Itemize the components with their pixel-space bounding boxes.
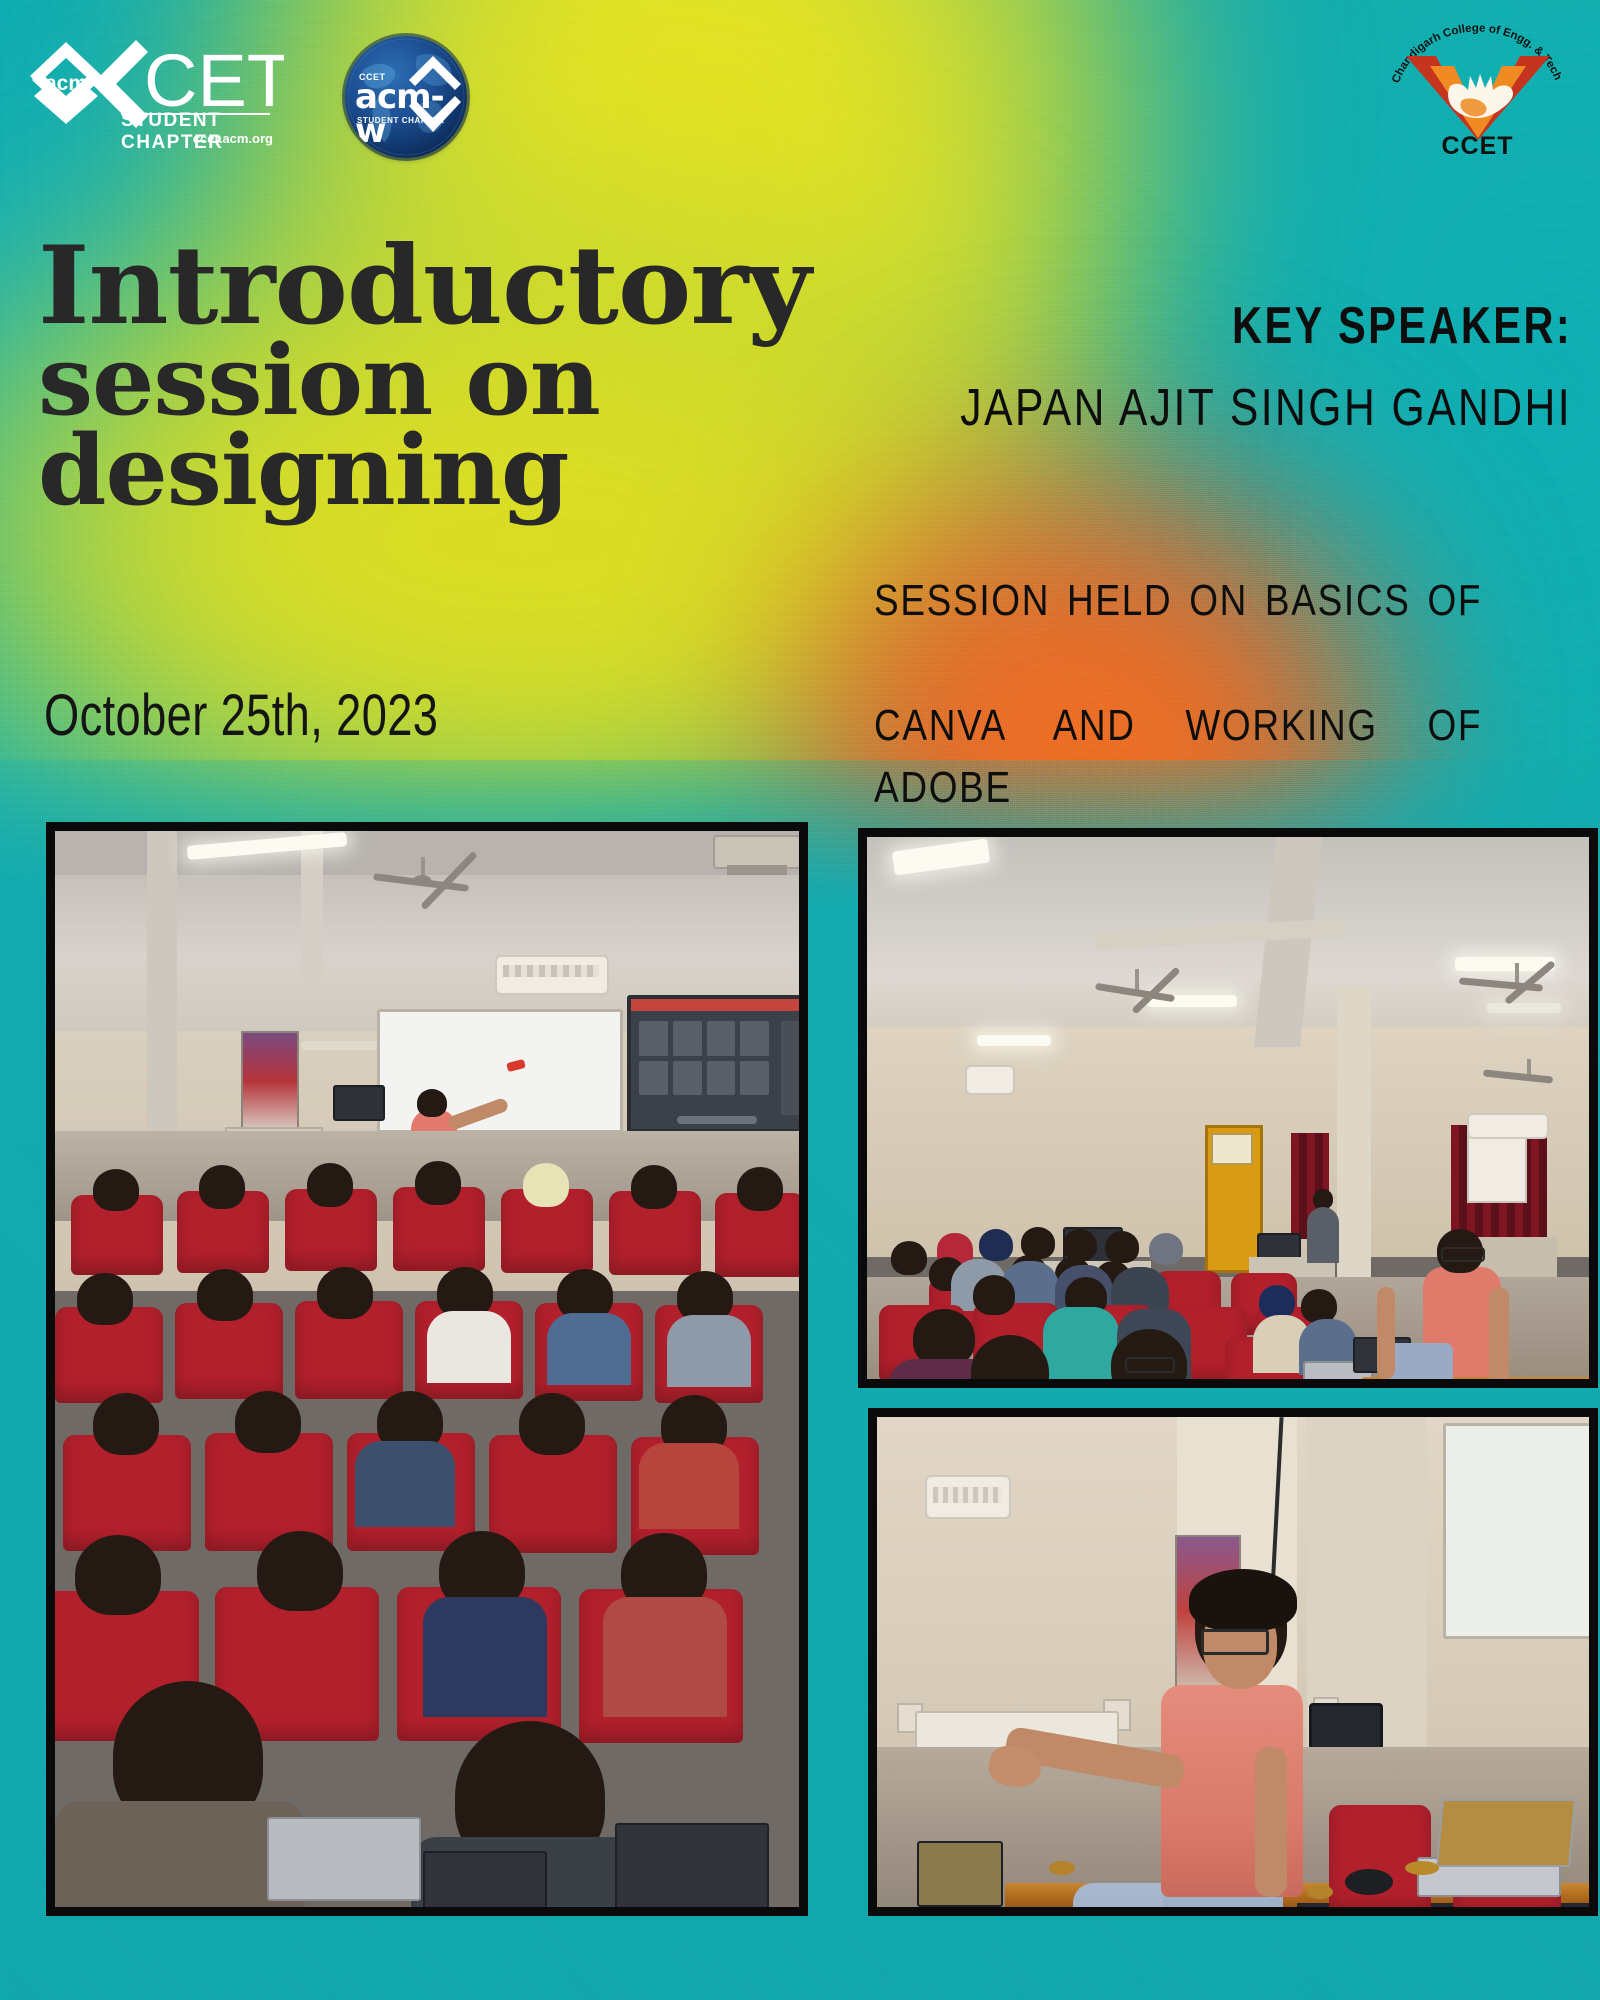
photo-lecture-hall-wide bbox=[46, 822, 808, 1916]
key-speaker-label: KEY SPEAKER: bbox=[1232, 296, 1572, 356]
svg-text:acm: acm bbox=[45, 72, 87, 95]
event-date: October 25th, 2023 bbox=[44, 682, 438, 749]
description-line-1: SESSION HELD ON BASICS OF bbox=[874, 570, 1482, 695]
acm-ccet-student-chapter-logo: acm CET STUDENT CHAPTER ccet.acm.org bbox=[24, 34, 284, 144]
photo-audience-and-speaker bbox=[858, 828, 1598, 1388]
ccet-v-emblem-icon bbox=[1404, 52, 1552, 140]
page-title: Introductory session on designing bbox=[38, 236, 895, 515]
title-line-1: Introductory bbox=[38, 236, 895, 336]
ccet-acronym-label: CCET bbox=[1390, 132, 1565, 161]
acm-w-student-chapter-logo: CCET acm-w STUDENT CHAPTER bbox=[345, 36, 485, 151]
acm-chapter-website: ccet.acm.org bbox=[121, 131, 273, 146]
ccet-college-logo: Chandigarh College of Engg. & Tech. CCET bbox=[1390, 14, 1565, 174]
title-line-3: designing bbox=[38, 426, 895, 515]
title-line-2: session on bbox=[38, 336, 895, 425]
event-poster: acm CET STUDENT CHAPTER ccet.acm.org bbox=[0, 0, 1600, 2000]
acm-w-globe-icon: CCET acm-w STUDENT CHAPTER bbox=[345, 36, 467, 158]
photo-speaker-closeup bbox=[868, 1408, 1598, 1916]
key-speaker-name: JAPAN AJIT SINGH GANDHI bbox=[960, 378, 1572, 438]
acm-diamond-icon bbox=[403, 54, 465, 142]
